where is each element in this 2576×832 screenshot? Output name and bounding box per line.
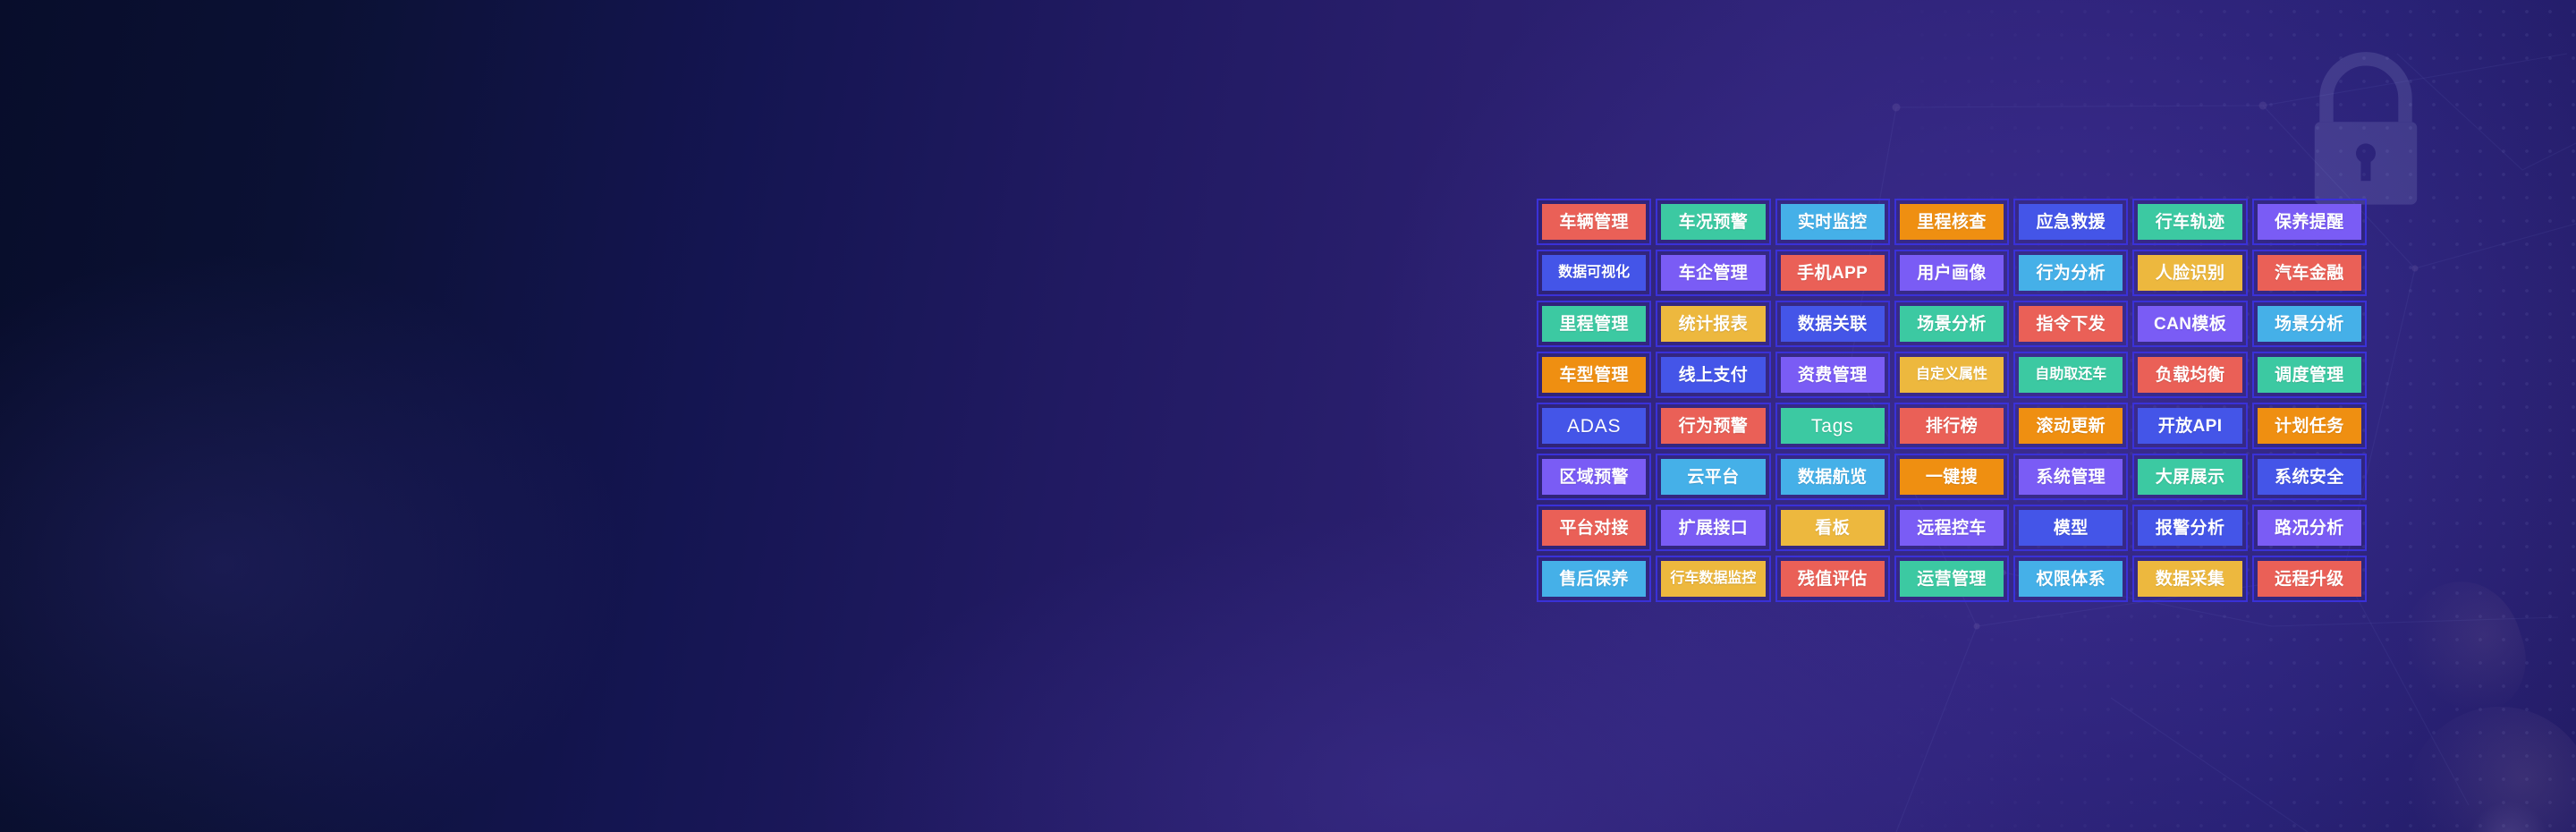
tag-chip[interactable]: 排行榜 xyxy=(1900,408,2004,444)
tag-chip[interactable]: 扩展接口 xyxy=(1661,510,1765,546)
tag-chip[interactable]: 售后保养 xyxy=(1542,561,1646,597)
tag-cell[interactable]: 路况分析 xyxy=(2252,505,2367,551)
tag-chip[interactable]: 车辆管理 xyxy=(1542,204,1646,240)
tag-cell[interactable]: 车况预警 xyxy=(1656,199,1770,245)
moon-glow-decoration xyxy=(2406,707,2576,832)
tag-chip[interactable]: 滚动更新 xyxy=(2019,408,2123,444)
tag-cell[interactable]: 负载均衡 xyxy=(2132,352,2247,398)
tag-chip[interactable]: 报警分析 xyxy=(2138,510,2241,546)
tag-cell[interactable]: 平台对接 xyxy=(1537,505,1651,551)
tag-cell[interactable]: 大屏展示 xyxy=(2132,454,2247,500)
tag-chip[interactable]: 场景分析 xyxy=(1900,306,2004,342)
tag-chip[interactable]: 手机APP xyxy=(1781,255,1885,291)
light-smudge-decoration xyxy=(2388,567,2540,731)
tag-cell[interactable]: 看板 xyxy=(1775,505,1890,551)
tag-chip[interactable]: CAN模板 xyxy=(2138,306,2241,342)
tag-cell[interactable]: 用户画像 xyxy=(1894,250,2009,296)
tag-chip[interactable]: 资费管理 xyxy=(1781,357,1885,393)
tag-chip[interactable]: 负载均衡 xyxy=(2138,357,2241,393)
tag-cell[interactable]: 远程升级 xyxy=(2252,556,2367,602)
tag-chip[interactable]: 统计报表 xyxy=(1661,306,1765,342)
tag-cell[interactable]: 指令下发 xyxy=(2013,301,2128,347)
tag-cell[interactable]: 车型管理 xyxy=(1537,352,1651,398)
tag-chip[interactable]: 应急救援 xyxy=(2019,204,2123,240)
tag-cell[interactable]: 保养提醒 xyxy=(2252,199,2367,245)
tag-cell[interactable]: 里程核查 xyxy=(1894,199,2009,245)
tag-cell[interactable]: 人脸识别 xyxy=(2132,250,2247,296)
page-canvas: 车辆管理车况预警实时监控里程核查应急救援行车轨迹保养提醒数据可视化车企管理手机A… xyxy=(0,0,2576,832)
tag-chip[interactable]: 自定义属性 xyxy=(1900,357,2004,393)
tag-cell[interactable]: 远程控车 xyxy=(1894,505,2009,551)
tag-cell[interactable]: 残值评估 xyxy=(1775,556,1890,602)
tag-chip[interactable]: 系统管理 xyxy=(2019,459,2123,495)
tag-chip[interactable]: 人脸识别 xyxy=(2138,255,2241,291)
tag-chip[interactable]: 车况预警 xyxy=(1661,204,1765,240)
tag-chip[interactable]: 残值评估 xyxy=(1781,561,1885,597)
tag-chip[interactable]: 场景分析 xyxy=(2258,306,2361,342)
tag-chip[interactable]: 数据可视化 xyxy=(1542,255,1646,291)
bokeh-dot-decoration xyxy=(2469,801,2549,832)
tag-chip[interactable]: 运营管理 xyxy=(1900,561,2004,597)
tag-chip[interactable]: 系统安全 xyxy=(2258,459,2361,495)
tag-cell[interactable]: 车企管理 xyxy=(1656,250,1770,296)
tag-chip[interactable]: 看板 xyxy=(1781,510,1885,546)
tag-chip[interactable]: 车型管理 xyxy=(1542,357,1646,393)
tag-cell[interactable]: 行车轨迹 xyxy=(2132,199,2247,245)
tag-chip[interactable]: 里程核查 xyxy=(1900,204,2004,240)
tag-cell[interactable]: Tags xyxy=(1775,403,1890,449)
tag-cell[interactable]: 一键搜 xyxy=(1894,454,2009,500)
tag-chip[interactable]: 计划任务 xyxy=(2258,408,2361,444)
tag-chip[interactable]: 开放API xyxy=(2138,408,2241,444)
tag-cell[interactable]: ADAS xyxy=(1537,403,1651,449)
tag-chip[interactable]: 里程管理 xyxy=(1542,306,1646,342)
tag-cell[interactable]: 运营管理 xyxy=(1894,556,2009,602)
tag-chip[interactable]: ADAS xyxy=(1542,408,1646,444)
tag-chip[interactable]: 区域预警 xyxy=(1542,459,1646,495)
tag-chip[interactable]: 用户画像 xyxy=(1900,255,2004,291)
tag-chip[interactable]: 数据关联 xyxy=(1781,306,1885,342)
background-glow-left xyxy=(0,250,626,832)
tag-cell[interactable]: 里程管理 xyxy=(1537,301,1651,347)
tag-cell[interactable]: 系统管理 xyxy=(2013,454,2128,500)
tag-chip[interactable]: 自助取还车 xyxy=(2019,357,2123,393)
tag-cell[interactable]: 数据可视化 xyxy=(1537,250,1651,296)
tag-cell[interactable]: 数据航览 xyxy=(1775,454,1890,500)
tag-cell[interactable]: 系统安全 xyxy=(2252,454,2367,500)
tag-chip[interactable]: 云平台 xyxy=(1661,459,1765,495)
tag-chip[interactable]: 保养提醒 xyxy=(2258,204,2361,240)
tag-chip[interactable]: 大屏展示 xyxy=(2138,459,2241,495)
tag-chip[interactable]: 平台对接 xyxy=(1542,510,1646,546)
tag-chip[interactable]: Tags xyxy=(1781,408,1885,444)
tag-chip[interactable]: 实时监控 xyxy=(1781,204,1885,240)
tag-cell[interactable]: 场景分析 xyxy=(1894,301,2009,347)
tag-chip[interactable]: 一键搜 xyxy=(1900,459,2004,495)
tag-chip[interactable]: 路况分析 xyxy=(2258,510,2361,546)
tag-chip[interactable]: 指令下发 xyxy=(2019,306,2123,342)
tag-chip[interactable]: 数据采集 xyxy=(2138,561,2241,597)
tag-chip[interactable]: 行车轨迹 xyxy=(2138,204,2241,240)
tag-grid: 车辆管理车况预警实时监控里程核查应急救援行车轨迹保养提醒数据可视化车企管理手机A… xyxy=(1537,199,2367,602)
tag-cell[interactable]: 自定义属性 xyxy=(1894,352,2009,398)
tag-chip[interactable]: 调度管理 xyxy=(2258,357,2361,393)
tag-cell[interactable]: 权限体系 xyxy=(2013,556,2128,602)
tag-chip[interactable]: 远程升级 xyxy=(2258,561,2361,597)
tag-chip[interactable]: 行为分析 xyxy=(2019,255,2123,291)
tag-cell[interactable]: 行车数据监控 xyxy=(1656,556,1770,602)
tag-cell[interactable]: 扩展接口 xyxy=(1656,505,1770,551)
tag-cell[interactable]: 行为分析 xyxy=(2013,250,2128,296)
tag-cell[interactable]: 模型 xyxy=(2013,505,2128,551)
tag-cell[interactable]: 应急救援 xyxy=(2013,199,2128,245)
tag-cell[interactable]: 排行榜 xyxy=(1894,403,2009,449)
tag-chip[interactable]: 远程控车 xyxy=(1900,510,2004,546)
tag-cell[interactable]: 统计报表 xyxy=(1656,301,1770,347)
tag-cell[interactable]: 开放API xyxy=(2132,403,2247,449)
tag-chip[interactable]: 车企管理 xyxy=(1661,255,1765,291)
tag-chip[interactable]: 模型 xyxy=(2019,510,2123,546)
tag-cell[interactable]: 售后保养 xyxy=(1537,556,1651,602)
tag-cell[interactable]: 计划任务 xyxy=(2252,403,2367,449)
tag-cell[interactable]: 滚动更新 xyxy=(2013,403,2128,449)
tag-cell[interactable]: 场景分析 xyxy=(2252,301,2367,347)
tag-cell[interactable]: 行为预警 xyxy=(1656,403,1770,449)
tag-chip[interactable]: 行车数据监控 xyxy=(1661,561,1765,597)
tag-cell[interactable]: 调度管理 xyxy=(2252,352,2367,398)
tag-cell[interactable]: 自助取还车 xyxy=(2013,352,2128,398)
tag-cell[interactable]: 资费管理 xyxy=(1775,352,1890,398)
tag-cell[interactable]: 车辆管理 xyxy=(1537,199,1651,245)
tag-cell[interactable]: 手机APP xyxy=(1775,250,1890,296)
tag-chip[interactable]: 汽车金融 xyxy=(2258,255,2361,291)
tag-chip[interactable]: 行为预警 xyxy=(1661,408,1765,444)
tag-cell[interactable]: 数据关联 xyxy=(1775,301,1890,347)
tag-cell[interactable]: 汽车金融 xyxy=(2252,250,2367,296)
tag-cell[interactable]: 区域预警 xyxy=(1537,454,1651,500)
tag-chip[interactable]: 线上支付 xyxy=(1661,357,1765,393)
tag-cell[interactable]: 线上支付 xyxy=(1656,352,1770,398)
tag-cell[interactable]: 云平台 xyxy=(1656,454,1770,500)
tag-chip[interactable]: 数据航览 xyxy=(1781,459,1885,495)
tag-cell[interactable]: CAN模板 xyxy=(2132,301,2247,347)
tag-cell[interactable]: 实时监控 xyxy=(1775,199,1890,245)
tag-chip[interactable]: 权限体系 xyxy=(2019,561,2123,597)
tag-cell[interactable]: 报警分析 xyxy=(2132,505,2247,551)
tag-cell[interactable]: 数据采集 xyxy=(2132,556,2247,602)
